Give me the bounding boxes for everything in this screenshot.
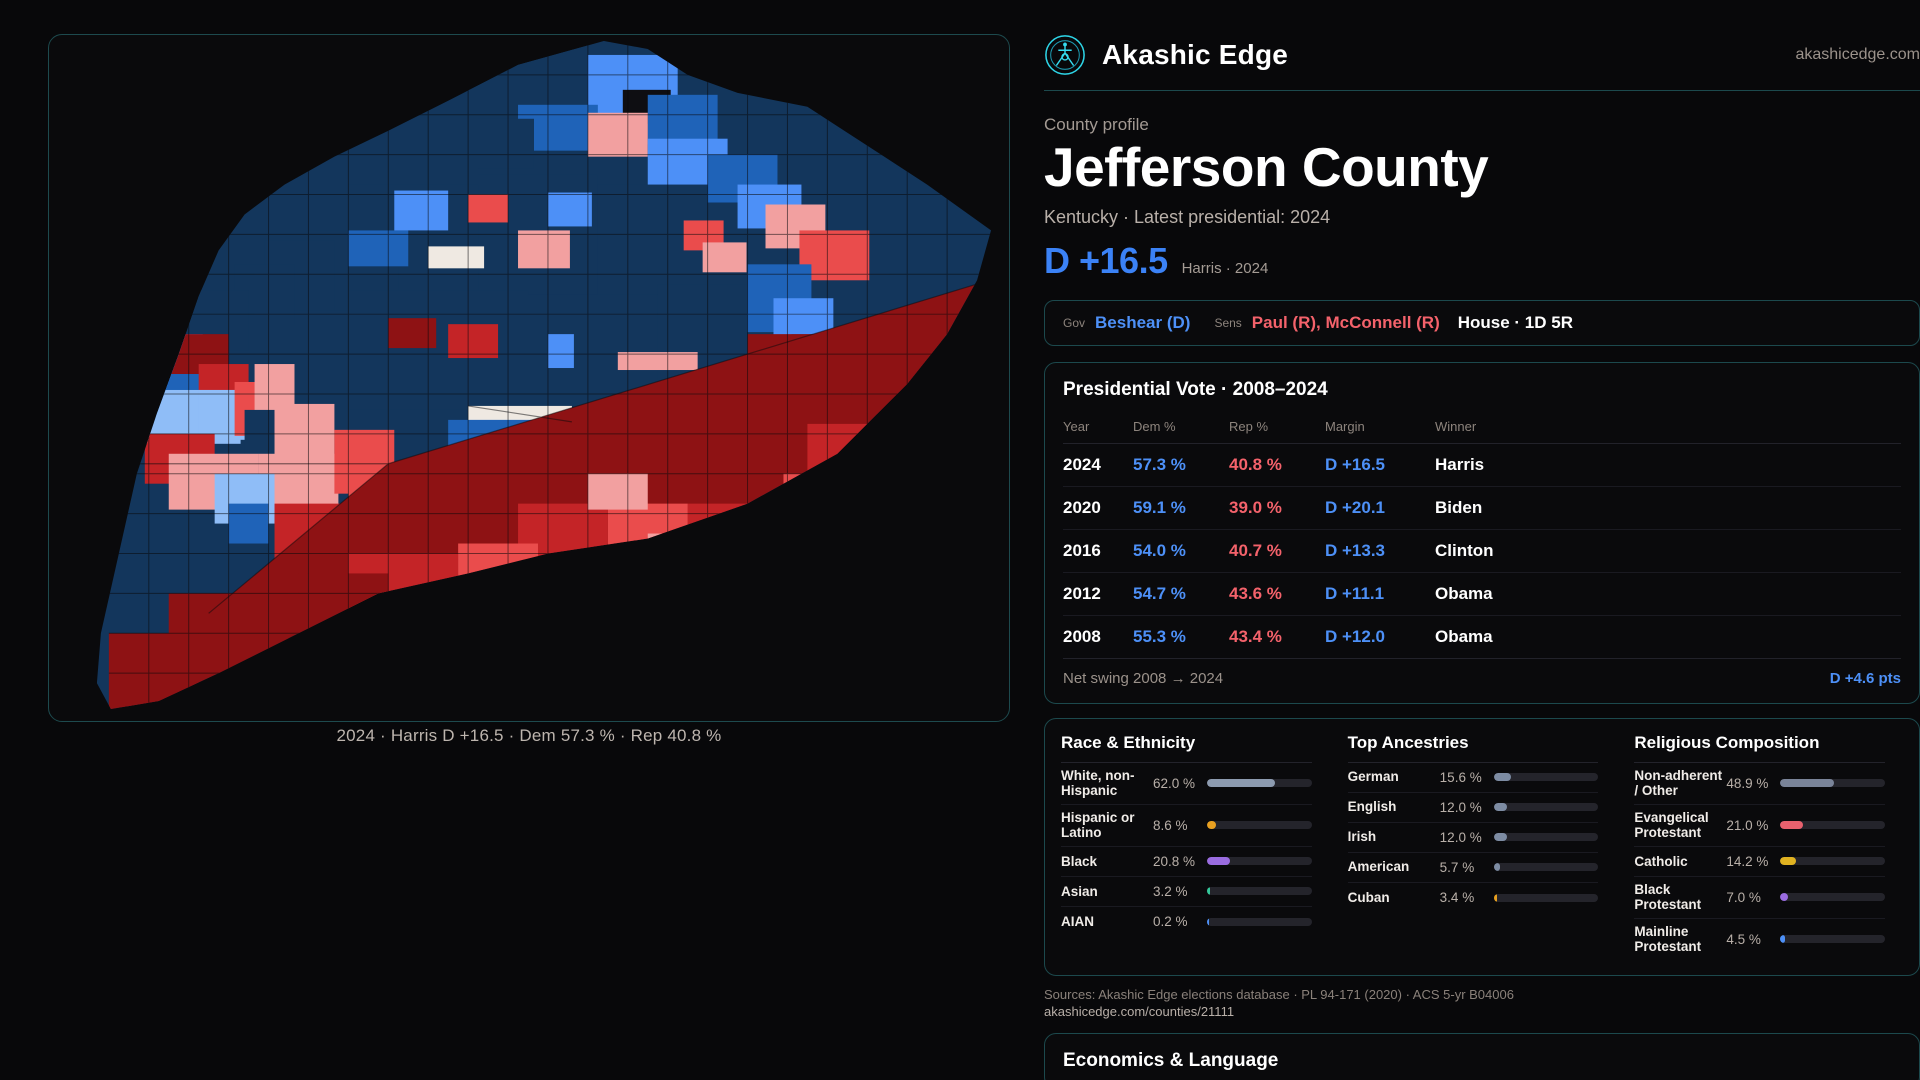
county-profile-panel: Akashic Edge akashicedge.com County prof… [1044, 0, 1920, 1080]
demographics-card: Race & Ethnicity White, non-Hispanic62.0… [1044, 718, 1920, 976]
cell-dem: 54.0 % [1133, 529, 1229, 572]
screen: 2024 · Harris D +16.5 · Dem 57.3 % · Rep… [0, 0, 1920, 1080]
cell-winner: Harris [1435, 443, 1901, 486]
religion-row: Mainline Protestant4.5 % [1634, 919, 1885, 960]
sens-value[interactable]: Paul (R), McConnell (R) [1252, 313, 1440, 333]
race-bar-track [1207, 887, 1312, 895]
race-value: 0.2 % [1153, 914, 1207, 929]
col-year: Year [1063, 411, 1133, 444]
religion-label: Non-adherent / Other [1634, 768, 1726, 799]
religion-bar-fill [1780, 821, 1803, 829]
net-swing-label: Net swing 2008 → 2024 [1063, 670, 1223, 687]
cell-margin: D +12.0 [1325, 615, 1435, 658]
ancestry-bar-fill [1494, 894, 1498, 902]
cell-year: 2020 [1063, 486, 1133, 529]
cell-dem: 59.1 % [1133, 486, 1229, 529]
table-row[interactable]: 202457.3 %40.8 %D +16.5Harris [1063, 443, 1901, 486]
sens-label: Sens [1214, 316, 1241, 330]
ancestry-label: Irish [1348, 829, 1440, 845]
religion-bar-fill [1780, 935, 1785, 943]
header-divider [1044, 90, 1920, 91]
race-ethnicity-column: Race & Ethnicity White, non-Hispanic62.0… [1061, 733, 1330, 960]
cell-winner: Clinton [1435, 529, 1901, 572]
race-bar-fill [1207, 779, 1275, 787]
table-header-row: Year Dem % Rep % Margin Winner [1063, 411, 1901, 444]
race-bar-track [1207, 857, 1312, 865]
ancestry-value: 15.6 % [1440, 770, 1494, 785]
ancestry-value: 5.7 % [1440, 860, 1494, 875]
col-margin: Margin [1325, 411, 1435, 444]
gov-value[interactable]: Beshear (D) [1095, 313, 1190, 333]
religion-bar-fill [1780, 893, 1788, 901]
table-row[interactable]: 200855.3 %43.4 %D +12.0Obama [1063, 615, 1901, 658]
race-row: Hispanic or Latino8.6 % [1061, 805, 1312, 847]
ancestry-bar-fill [1494, 833, 1507, 841]
religion-bar-track [1780, 857, 1885, 865]
ancestry-label: German [1348, 769, 1440, 785]
religious-composition-title: Religious Composition [1634, 733, 1885, 763]
vote-rows: 202457.3 %40.8 %D +16.5Harris202059.1 %3… [1063, 443, 1901, 658]
religious-composition-column: Religious Composition Non-adherent / Oth… [1616, 733, 1903, 960]
sources-permalink[interactable]: akashicedge.com/counties/21111 [1044, 1003, 1920, 1021]
cell-year: 2016 [1063, 529, 1133, 572]
ancestry-row: American5.7 % [1348, 853, 1599, 883]
economics-language-title: Economics & Language [1063, 1050, 1901, 1072]
ancestry-bar-track [1494, 803, 1599, 811]
cell-winner: Biden [1435, 486, 1901, 529]
religion-value: 48.9 % [1726, 776, 1780, 791]
table-row[interactable]: 201654.0 %40.7 %D +13.3Clinton [1063, 529, 1901, 572]
ancestry-value: 3.4 % [1440, 890, 1494, 905]
sources-footnote: Sources: Akashic Edge elections database… [1044, 986, 1920, 1021]
race-ethnicity-title: Race & Ethnicity [1061, 733, 1312, 763]
ancestry-bar-track [1494, 863, 1599, 871]
presidential-vote-table: Year Dem % Rep % Margin Winner 202457.3 … [1063, 411, 1901, 659]
race-row: AIAN0.2 % [1061, 907, 1312, 937]
religion-value: 21.0 % [1726, 818, 1780, 833]
margin-value: D +16.5 [1044, 240, 1168, 282]
race-row: White, non-Hispanic62.0 % [1061, 763, 1312, 805]
religion-value: 7.0 % [1726, 890, 1780, 905]
race-bar-track [1207, 821, 1312, 829]
precinct-choropleth-svg [49, 35, 1009, 721]
cell-margin: D +20.1 [1325, 486, 1435, 529]
cell-rep: 43.6 % [1229, 572, 1325, 615]
sources-line: Sources: Akashic Edge elections database… [1044, 986, 1920, 1004]
net-swing-value: D +4.6 pts [1830, 670, 1901, 687]
cell-rep: 43.4 % [1229, 615, 1325, 658]
county-precinct-map[interactable] [48, 34, 1010, 722]
cell-dem: 54.7 % [1133, 572, 1229, 615]
col-winner: Winner [1435, 411, 1901, 444]
ancestry-label: Cuban [1348, 890, 1440, 906]
ancestry-bar-fill [1494, 863, 1500, 871]
race-value: 20.8 % [1153, 854, 1207, 869]
race-row: Black20.8 % [1061, 847, 1312, 877]
race-label: AIAN [1061, 914, 1153, 930]
headline-margin: D +16.5 Harris · 2024 [1044, 240, 1920, 282]
religion-bar-track [1780, 821, 1885, 829]
ancestry-bar-track [1494, 894, 1599, 902]
akashic-circle-figure-icon [1044, 34, 1086, 76]
ancestry-row: Cuban3.4 % [1348, 883, 1599, 913]
race-value: 8.6 % [1153, 818, 1207, 833]
table-row[interactable]: 202059.1 %39.0 %D +20.1Biden [1063, 486, 1901, 529]
cell-dem: 57.3 % [1133, 443, 1229, 486]
religion-label: Catholic [1634, 854, 1726, 870]
race-label: White, non-Hispanic [1061, 768, 1153, 799]
religion-value: 4.5 % [1726, 932, 1780, 947]
presidential-vote-title: Presidential Vote · 2008–2024 [1063, 379, 1901, 401]
economics-language-card: Economics & Language [1044, 1033, 1920, 1080]
religion-value: 14.2 % [1726, 854, 1780, 869]
ancestry-bar-track [1494, 833, 1599, 841]
religion-label: Mainline Protestant [1634, 924, 1726, 955]
elected-officials-bar: Gov Beshear (D) Sens Paul (R), McConnell… [1044, 300, 1920, 346]
page-kicker: County profile [1044, 115, 1920, 135]
race-label: Asian [1061, 884, 1153, 900]
religion-label: Evangelical Protestant [1634, 810, 1726, 841]
ancestry-value: 12.0 % [1440, 830, 1494, 845]
cell-margin: D +11.1 [1325, 572, 1435, 615]
top-ancestries-title: Top Ancestries [1348, 733, 1599, 763]
race-bar-fill [1207, 887, 1210, 895]
race-row: Asian3.2 % [1061, 877, 1312, 907]
cell-winner: Obama [1435, 572, 1901, 615]
race-bar-track [1207, 779, 1312, 787]
ancestry-bar-fill [1494, 773, 1511, 781]
race-bar-fill [1207, 918, 1209, 926]
race-bar-fill [1207, 857, 1230, 865]
cell-rep: 40.7 % [1229, 529, 1325, 572]
ancestry-label: American [1348, 859, 1440, 875]
race-value: 62.0 % [1153, 776, 1207, 791]
gov-label: Gov [1063, 316, 1085, 330]
cell-year: 2012 [1063, 572, 1133, 615]
ancestry-label: English [1348, 799, 1440, 815]
cell-rep: 40.8 % [1229, 443, 1325, 486]
religion-row: Black Protestant7.0 % [1634, 877, 1885, 919]
religion-row: Catholic14.2 % [1634, 847, 1885, 877]
religion-bar-track [1780, 935, 1885, 943]
religion-label: Black Protestant [1634, 882, 1726, 913]
site-url: akashicedge.com [1795, 46, 1920, 64]
house-delegation: House · 1D 5R [1458, 313, 1573, 333]
ancestry-row: Irish12.0 % [1348, 823, 1599, 853]
net-swing-row: Net swing 2008 → 2024 D +4.6 pts [1063, 659, 1901, 687]
map-caption: 2024 · Harris D +16.5 · Dem 57.3 % · Rep… [48, 726, 1010, 746]
state-and-year-subline: Kentucky · Latest presidential: 2024 [1044, 207, 1920, 228]
cell-rep: 39.0 % [1229, 486, 1325, 529]
race-label: Hispanic or Latino [1061, 810, 1153, 841]
brand-name: Akashic Edge [1102, 39, 1288, 71]
ancestry-row: German15.6 % [1348, 763, 1599, 793]
race-bar-track [1207, 918, 1312, 926]
religion-bar-track [1780, 779, 1885, 787]
cell-margin: D +13.3 [1325, 529, 1435, 572]
table-row[interactable]: 201254.7 %43.6 %D +11.1Obama [1063, 572, 1901, 615]
cell-year: 2008 [1063, 615, 1133, 658]
top-ancestries-column: Top Ancestries German15.6 %English12.0 %… [1330, 733, 1617, 960]
cell-dem: 55.3 % [1133, 615, 1229, 658]
race-value: 3.2 % [1153, 884, 1207, 899]
col-rep: Rep % [1229, 411, 1325, 444]
religion-bar-track [1780, 893, 1885, 901]
ancestry-row: English12.0 % [1348, 793, 1599, 823]
col-dem: Dem % [1133, 411, 1229, 444]
page-title: Jefferson County [1044, 139, 1920, 197]
ancestry-bar-fill [1494, 803, 1507, 811]
margin-note: Harris · 2024 [1182, 260, 1269, 277]
cell-year: 2024 [1063, 443, 1133, 486]
presidential-vote-card: Presidential Vote · 2008–2024 Year Dem %… [1044, 362, 1920, 704]
religion-bar-fill [1780, 779, 1833, 787]
cell-margin: D +16.5 [1325, 443, 1435, 486]
app-header: Akashic Edge akashicedge.com [1044, 24, 1920, 86]
religion-row: Non-adherent / Other48.9 % [1634, 763, 1885, 805]
religion-row: Evangelical Protestant21.0 % [1634, 805, 1885, 847]
cell-winner: Obama [1435, 615, 1901, 658]
race-label: Black [1061, 854, 1153, 870]
ancestry-bar-track [1494, 773, 1599, 781]
race-bar-fill [1207, 821, 1216, 829]
ancestry-value: 12.0 % [1440, 800, 1494, 815]
religion-bar-fill [1780, 857, 1795, 865]
